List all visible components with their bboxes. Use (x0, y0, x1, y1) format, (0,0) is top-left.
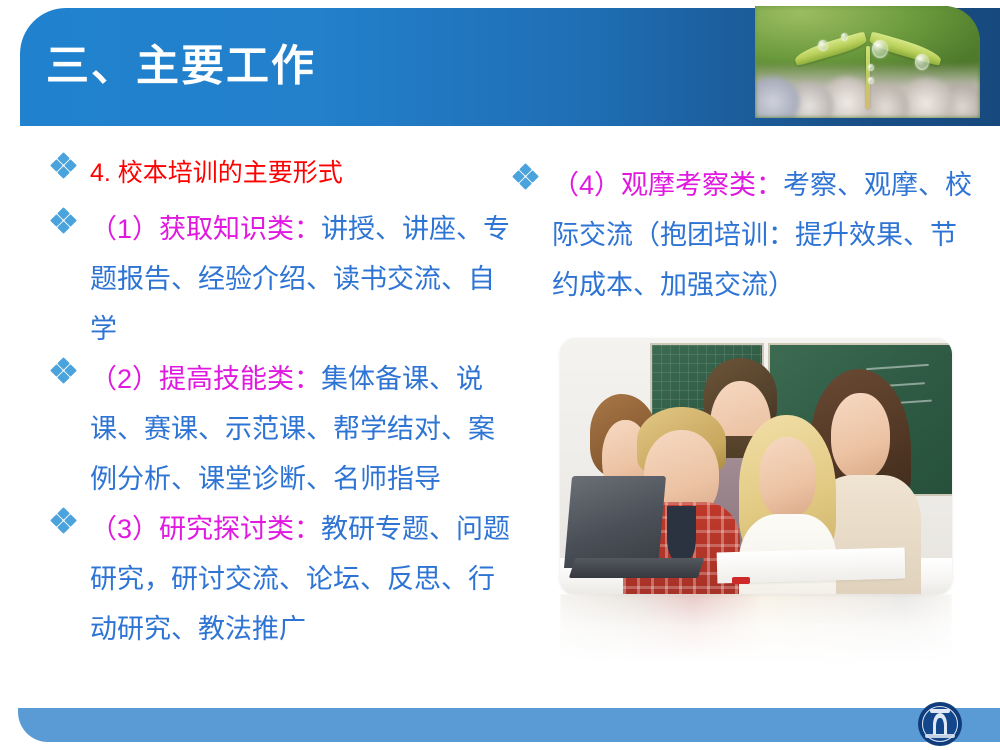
right-text-column: （4）观摩考察类：考察、观摩、校际交流（抱团培训：提升效果、节约成本、加强交流） (506, 160, 976, 310)
diamond-bullet-icon (52, 509, 78, 535)
bullet-item-4: （4）观摩考察类：考察、观摩、校际交流（抱团培训：提升效果、节约成本、加强交流） (506, 160, 976, 310)
diamond-bullet-icon (52, 209, 78, 235)
bullet-item-2: （2）提高技能类：集体备课、说课、赛课、示范课、帮学结对、案例分析、课堂诊断、名… (44, 354, 514, 504)
diamond-bullet-icon (514, 165, 540, 191)
bullet-lead: （1）获取知识类： (90, 214, 321, 244)
diamond-bullet-icon (52, 359, 78, 385)
left-text-column: 4. 校本培训的主要形式 （1）获取知识类：讲授、讲座、专题报告、经验介绍、读书… (44, 152, 514, 654)
bullet-paragraph: （4）观摩考察类：考察、观摩、校际交流（抱团培训：提升效果、节约成本、加强交流） (552, 170, 972, 300)
red-marker (732, 577, 750, 584)
slide-canvas: 三、主要工作 4. 校本培训的主要形式 （1）获取知识类：讲授、讲座、专题报告、… (0, 0, 1000, 750)
diamond-bullet-icon (52, 154, 78, 180)
footer-bar (18, 708, 1000, 742)
laptop-base (568, 558, 704, 578)
laptop-screen (564, 476, 666, 568)
bullet-item-1: （1）获取知识类：讲授、讲座、专题报告、经验介绍、读书交流、自学 (44, 204, 514, 354)
school-emblem-logo-icon (918, 702, 962, 746)
group-photo-frame (560, 338, 952, 594)
bullet-paragraph: （2）提高技能类：集体备课、说课、赛课、示范课、帮学结对、案例分析、课堂诊断、名… (90, 364, 495, 494)
dew-drop-5 (868, 64, 874, 71)
dew-drop-1 (872, 40, 888, 58)
bullet-item-3: （3）研究探讨类：教研专题、问题研究，研讨交流、论坛、反思、行动研究、教法推广 (44, 504, 514, 654)
bullet-lead: （2）提高技能类： (90, 364, 321, 394)
bullet-text: 4. 校本培训的主要形式 (90, 159, 343, 187)
bullet-paragraph: （3）研究探讨类：教研专题、问题研究，研讨交流、论坛、反思、行动研究、教法推广 (90, 514, 510, 644)
page-title: 三、主要工作 (46, 46, 316, 89)
bullet-paragraph: （1）获取知识类：讲授、讲座、专题报告、经验介绍、读书交流、自学 (90, 214, 510, 344)
bullet-lead: （3）研究探讨类： (90, 514, 321, 544)
sprout-photo (755, 6, 980, 118)
dew-drop-2 (915, 54, 929, 70)
bullet-item-heading: 4. 校本培训的主要形式 (44, 152, 514, 194)
group-photo-reflection (560, 594, 952, 662)
group-photo (560, 338, 952, 594)
bullet-lead: （4）观摩考察类： (552, 170, 783, 200)
dew-drop-3 (818, 40, 828, 51)
dew-drop-6 (868, 77, 874, 84)
dew-drop-4 (841, 33, 848, 41)
